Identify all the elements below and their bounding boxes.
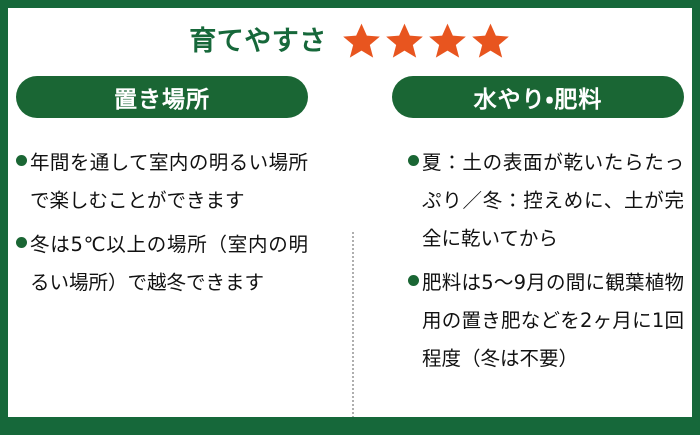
bullet-dot-icon [408,155,419,166]
list-item-text: 夏：土の表面が乾いたらたっぷり／冬：控えめに、土が完全に乾いてから [422,144,684,258]
star-icon [427,21,468,61]
card-heading: 育てやすさ [8,10,692,72]
bullet-dot-icon [16,237,27,248]
star-icon [341,21,382,61]
list-item-text: 肥料は5〜9月の間に観葉植物用の置き肥などを2ヶ月に1回程度（冬は不要） [422,264,684,378]
content-columns: 年間を通して室内の明るい場所で楽しむことができます 冬は5℃以上の場所（室内の明… [8,144,692,384]
section-badge-watering-fertilizer: 水やり・肥料 [392,76,684,118]
list-item: 肥料は5〜9月の間に観葉植物用の置き肥などを2ヶ月に1回程度（冬は不要） [408,264,684,378]
bullet-dot-icon [408,275,419,286]
list-item: 年間を通して室内の明るい場所で楽しむことができます [16,144,308,220]
plant-care-card: 育てやすさ 置き場所 水やり・肥料 年間を通して室内の明るい場所で [0,0,700,435]
column-divider [352,232,354,435]
section-badge-placement: 置き場所 [16,76,308,118]
star-icon [384,21,425,61]
star-rating [341,21,511,61]
list-item-text: 冬は5℃以上の場所（室内の明るい場所）で越冬できます [30,226,308,302]
list-item-text: 年間を通して室内の明るい場所で楽しむことができます [30,144,308,220]
section-badge-row: 置き場所 水やり・肥料 [8,76,692,118]
list-item: 夏：土の表面が乾いたらたっぷり／冬：控えめに、土が完全に乾いてから [408,144,684,258]
list-item: 冬は5℃以上の場所（室内の明るい場所）で越冬できます [16,226,308,302]
star-icon [470,21,511,61]
bullet-dot-icon [16,155,27,166]
page-title: 育てやすさ [189,28,327,55]
column-watering-fertilizer: 夏：土の表面が乾いたらたっぷり／冬：控えめに、土が完全に乾いてから 肥料は5〜9… [392,144,684,384]
column-placement: 年間を通して室内の明るい場所で楽しむことができます 冬は5℃以上の場所（室内の明… [16,144,308,384]
